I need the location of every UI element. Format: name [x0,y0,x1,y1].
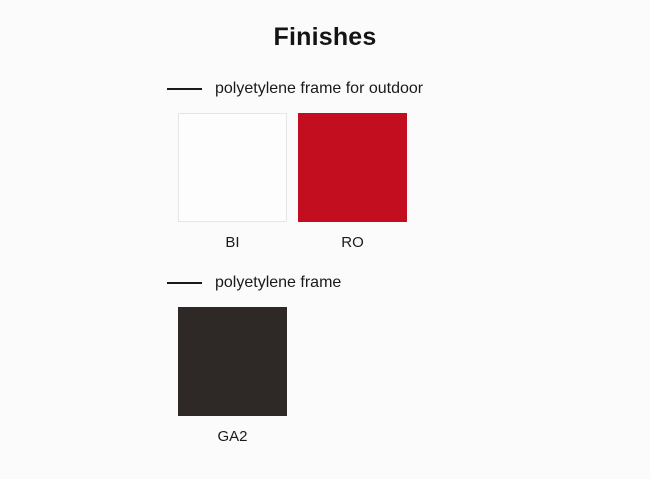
legend-label: polyetylene frame [215,273,341,293]
color-swatch[interactable] [178,307,287,416]
color-swatch[interactable] [178,113,287,222]
swatch-code-label: BI [225,234,239,252]
swatch-code-label: RO [341,234,364,252]
swatch-item[interactable]: RO [298,113,407,252]
legend-row: polyetylene frame [167,272,341,294]
swatch-row: GA2 [178,307,287,446]
swatch-item[interactable]: GA2 [178,307,287,446]
color-swatch[interactable] [298,113,407,222]
finishes-sheet: Finishes polyetylene frame for outdoor B… [0,0,650,479]
legend-line-icon [167,282,202,284]
legend-label: polyetylene frame for outdoor [215,79,423,99]
swatch-item[interactable]: BI [178,113,287,252]
legend-line-icon [167,88,202,90]
swatch-row: BI RO [178,113,407,252]
page-title: Finishes [0,22,650,52]
swatch-code-label: GA2 [217,428,247,446]
legend-row: polyetylene frame for outdoor [167,78,423,100]
